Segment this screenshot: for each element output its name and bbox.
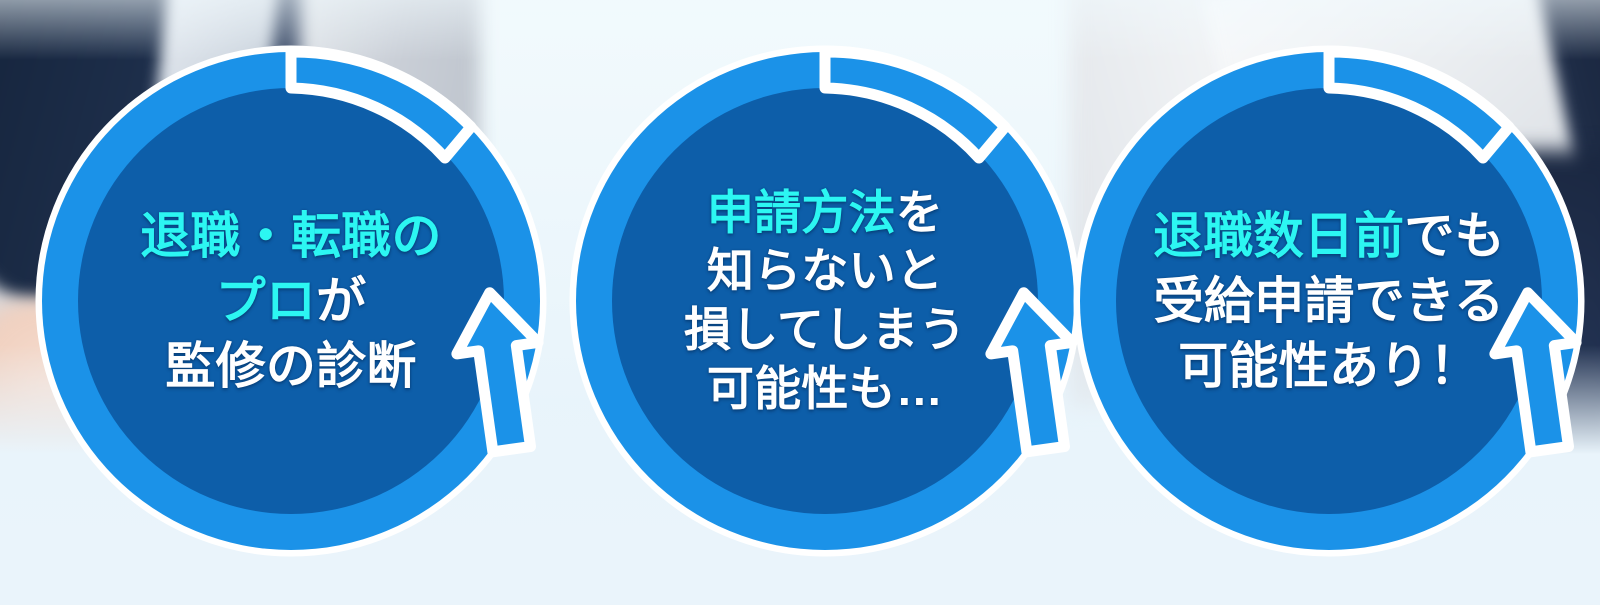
banner-stage: 退職・転職の プロが 監修の診断 [0,0,1600,605]
benefit-circle-1: 退職・転職の プロが 監修の診断 [36,46,546,556]
cycle-arrow-circle-icon-1 [36,46,546,556]
benefit-circle-3: 退職数日前でも 受給申請できる 可能性あり！ [1074,46,1584,556]
cycle-arrow-circle-icon-3 [1074,46,1584,556]
cycle-arrow-circle-icon-2 [570,46,1080,556]
circle-group: 退職・転職の プロが 監修の診断 [0,0,1600,605]
benefit-circle-2: 申請方法を 知らないと 損してしまう 可能性も… [570,46,1080,556]
